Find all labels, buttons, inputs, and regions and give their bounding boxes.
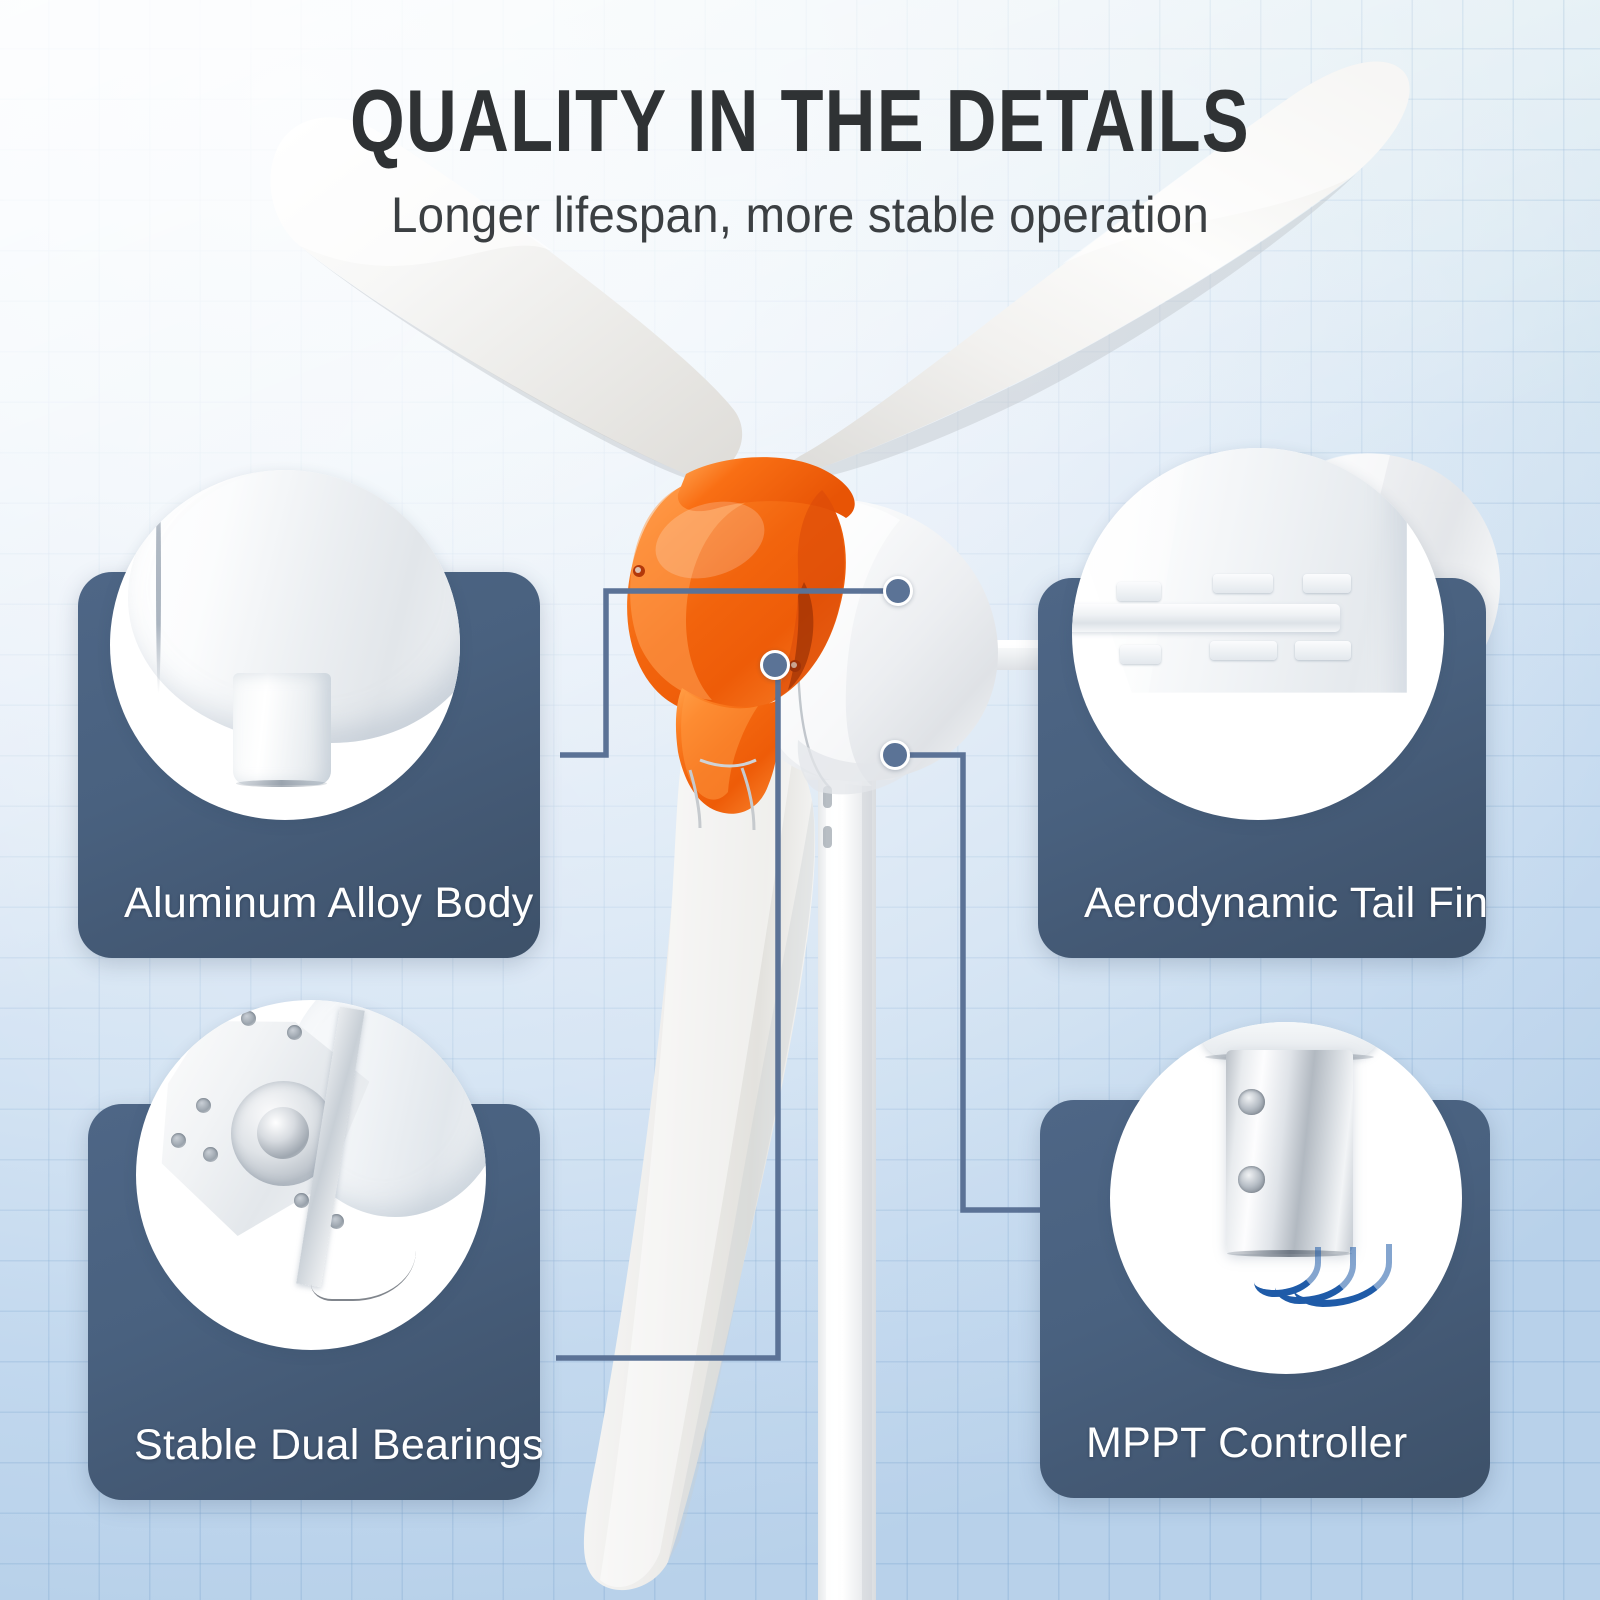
header: QUALITY IN THE DETAILS Longer lifespan, … bbox=[0, 0, 1600, 244]
fin-clip-icon bbox=[1120, 645, 1161, 664]
callout-dot-aluminum-alloy-body[interactable] bbox=[883, 576, 913, 606]
feature-label-aerodynamic-tail-fin: Aerodynamic Tail Fin bbox=[1038, 879, 1486, 928]
page-title: QUALITY IN THE DETAILS bbox=[160, 78, 1440, 164]
callout-dot-stable-dual-bearings[interactable] bbox=[760, 650, 790, 680]
bearing-hub-shape bbox=[257, 1107, 310, 1160]
bolt-hole-icon bbox=[294, 1193, 309, 1208]
fin-clip-icon bbox=[1210, 641, 1277, 660]
infographic-canvas: QUALITY IN THE DETAILS Longer lifespan, … bbox=[0, 0, 1600, 1600]
feature-image-mppt-controller bbox=[1110, 1022, 1462, 1374]
page-subtitle: Longer lifespan, more stable operation bbox=[40, 186, 1560, 244]
bolt-hole-icon bbox=[287, 1025, 302, 1040]
screw-hole-icon bbox=[1238, 1089, 1264, 1115]
housing-seam-line bbox=[156, 470, 161, 694]
feature-image-stable-dual-bearings bbox=[136, 1000, 486, 1350]
wire-blue bbox=[1293, 1244, 1392, 1307]
housing-neck-shape bbox=[233, 673, 331, 785]
controller-cylinder-shape bbox=[1226, 1050, 1353, 1254]
screw-hole-icon bbox=[1238, 1166, 1264, 1192]
feature-label-stable-dual-bearings: Stable Dual Bearings bbox=[88, 1421, 540, 1470]
fin-clip-icon bbox=[1295, 641, 1351, 660]
fin-clip-icon bbox=[1213, 574, 1273, 593]
bearing-wire-line bbox=[311, 1217, 416, 1301]
callout-dot-mppt-controller[interactable] bbox=[880, 740, 910, 770]
fin-clip-icon bbox=[1117, 582, 1162, 601]
feature-image-aerodynamic-tail-fin bbox=[1072, 448, 1444, 820]
feature-label-aluminum-alloy-body: Aluminum Alloy Body bbox=[78, 879, 540, 928]
tail-boom-rod-shape bbox=[1072, 604, 1340, 632]
feature-image-aluminum-alloy-body bbox=[110, 470, 460, 820]
feature-label-mppt-controller: MPPT Controller bbox=[1040, 1419, 1490, 1468]
fin-clip-icon bbox=[1303, 574, 1351, 593]
